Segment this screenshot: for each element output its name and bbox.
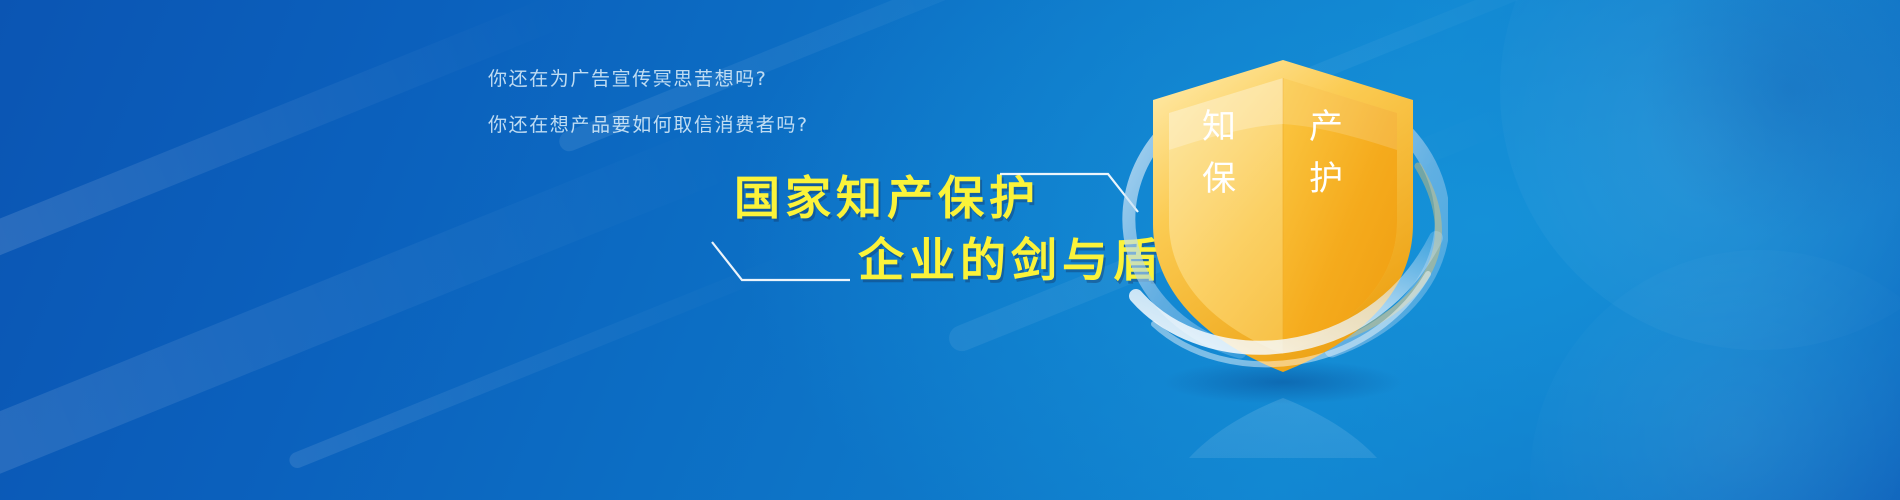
- background-streak-2: [0, 120, 742, 500]
- background-glow-bottom-right: [1530, 250, 1900, 500]
- subtitle-line-2: 你还在想产品要如何取信消费者吗?: [488, 116, 809, 135]
- background-streak-3: [287, 253, 794, 470]
- shield-reflection: [1153, 398, 1413, 458]
- background-streak-1: [0, 0, 570, 265]
- background-shadow-right: [1640, 0, 1900, 240]
- subtitle-line-1: 你还在为广告宣传冥思苦想吗?: [488, 70, 809, 89]
- shield-emblem: [1118, 38, 1448, 458]
- background-glow-top-right: [1500, 0, 1900, 350]
- bracket-line-bottom-left: [710, 238, 850, 286]
- promo-banner: 你还在为广告宣传冥思苦想吗? 你还在想产品要如何取信消费者吗? 国家知产保护 企…: [0, 0, 1900, 500]
- subtitle-group: 你还在为广告宣传冥思苦想吗? 你还在想产品要如何取信消费者吗?: [488, 70, 809, 162]
- headline-line-1: 国家知产保护: [734, 175, 1040, 221]
